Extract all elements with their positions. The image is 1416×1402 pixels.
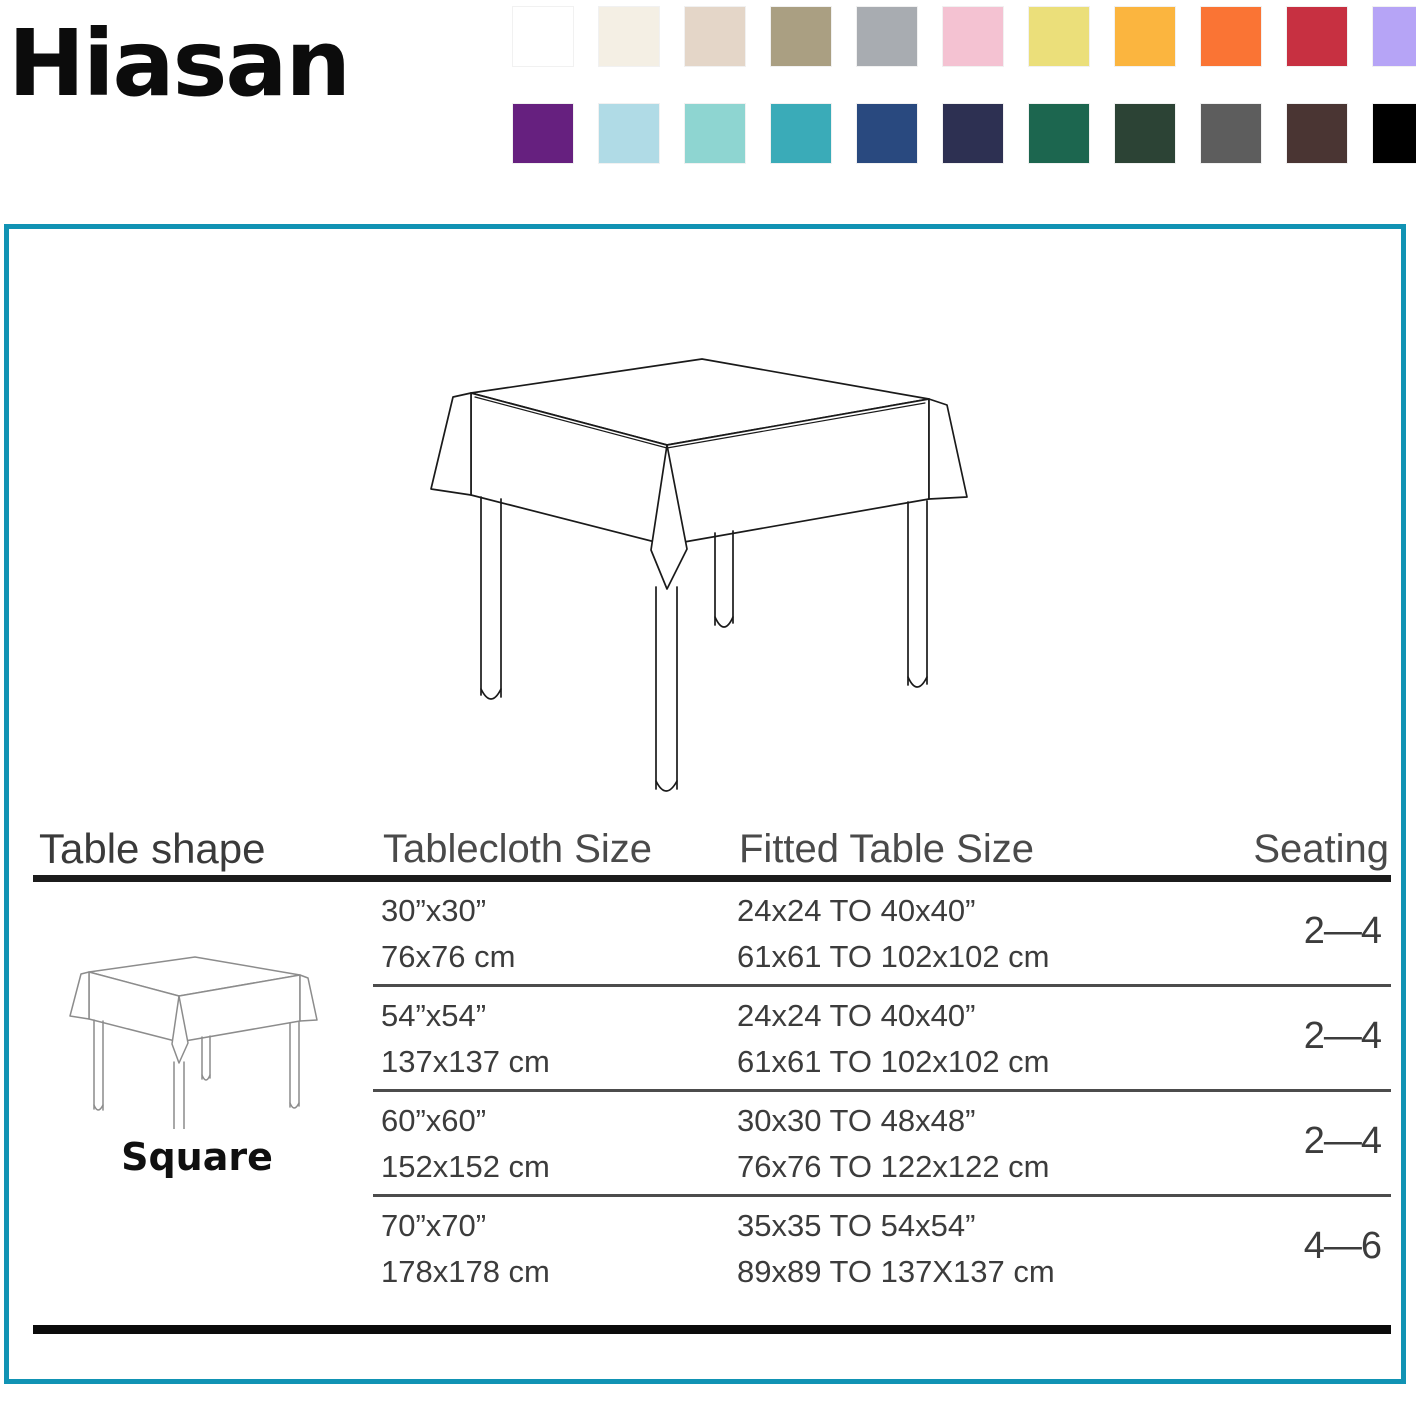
cell-tablecloth-inches: 30”x30” [381,894,486,928]
cell-fitted-cm: 61x61 TO 102x102 cm [737,1045,1050,1079]
color-swatch-amber[interactable] [1115,7,1175,66]
cell-fitted-inches: 24x24 TO 40x40” [737,999,975,1033]
cell-seating: 4—6 [1304,1229,1381,1263]
cell-tablecloth-inches: 60”x60” [381,1104,486,1138]
cell-tablecloth-cm: 178x178 cm [381,1255,550,1289]
color-swatch-white[interactable] [513,7,573,66]
color-swatch-dark-green[interactable] [1115,104,1175,163]
column-header-fitted-table-size: Fitted Table Size [739,827,1034,871]
cell-fitted-cm: 61x61 TO 102x102 cm [737,940,1050,974]
cell-fitted-inches: 30x30 TO 48x48” [737,1104,975,1138]
column-header-table-shape: Table shape [39,827,266,871]
color-swatch-yellow[interactable] [1029,7,1089,66]
color-swatch-taupe[interactable] [771,7,831,66]
cell-fitted-inches: 24x24 TO 40x40” [737,894,975,928]
color-swatch-purple[interactable] [513,104,573,163]
color-swatch-beige[interactable] [685,7,745,66]
color-swatch-aqua[interactable] [685,104,745,163]
cell-seating: 2—4 [1304,1124,1381,1158]
color-swatch-dark-brown[interactable] [1287,104,1347,163]
brand-logo: Hiasan [8,14,349,114]
table-bottom-divider [33,1325,1391,1334]
color-swatch-orange[interactable] [1201,7,1261,66]
cell-tablecloth-cm: 76x76 cm [381,940,515,974]
table-header-row: Table shape Tablecloth Size Fitted Table… [33,809,1391,871]
cell-tablecloth-inches: 54”x54” [381,999,486,1033]
color-swatch-navy[interactable] [943,104,1003,163]
color-swatch-pink[interactable] [943,7,1003,66]
cell-tablecloth-inches: 70”x70” [381,1209,486,1243]
column-header-tablecloth-size: Tablecloth Size [383,827,652,871]
square-tablecloth-illustration [419,337,979,807]
color-swatch-row-2 [513,104,1403,163]
color-swatch-ivory[interactable] [599,7,659,66]
cell-tablecloth-cm: 137x137 cm [381,1045,550,1079]
cell-fitted-inches: 35x35 TO 54x54” [737,1209,975,1243]
color-swatch-gray[interactable] [857,7,917,66]
color-swatch-dark-gray[interactable] [1201,104,1261,163]
color-swatch-black[interactable] [1373,104,1416,163]
cell-seating: 2—4 [1304,1019,1381,1053]
size-table: Table shape Tablecloth Size Fitted Table… [33,809,1391,1334]
table-row: 60”x60” 152x152 cm 30x30 TO 48x48” 76x76… [33,1092,1391,1194]
color-swatch-row-1 [513,7,1403,66]
color-swatch-teal[interactable] [771,104,831,163]
header-divider [33,875,1391,882]
size-guide-panel: Square Table shape Tablecloth Size Fitte… [4,224,1406,1384]
header-band: Hiasan [0,0,1416,200]
color-swatch-red[interactable] [1287,7,1347,66]
table-row: 54”x54” 137x137 cm 24x24 TO 40x40” 61x61… [33,987,1391,1089]
cell-fitted-cm: 76x76 TO 122x122 cm [737,1150,1050,1184]
color-swatch-grid [513,7,1403,201]
cell-seating: 2—4 [1304,914,1381,948]
color-swatch-lavender[interactable] [1373,7,1416,66]
color-swatch-blue[interactable] [857,104,917,163]
column-header-seating: Seating [1253,827,1389,871]
color-swatch-light-blue[interactable] [599,104,659,163]
color-swatch-emerald[interactable] [1029,104,1089,163]
cell-fitted-cm: 89x89 TO 137X137 cm [737,1255,1055,1289]
table-row: 70”x70” 178x178 cm 35x35 TO 54x54” 89x89… [33,1197,1391,1299]
cell-tablecloth-cm: 152x152 cm [381,1150,550,1184]
table-row: 30”x30” 76x76 cm 24x24 TO 40x40” 61x61 T… [33,882,1391,984]
